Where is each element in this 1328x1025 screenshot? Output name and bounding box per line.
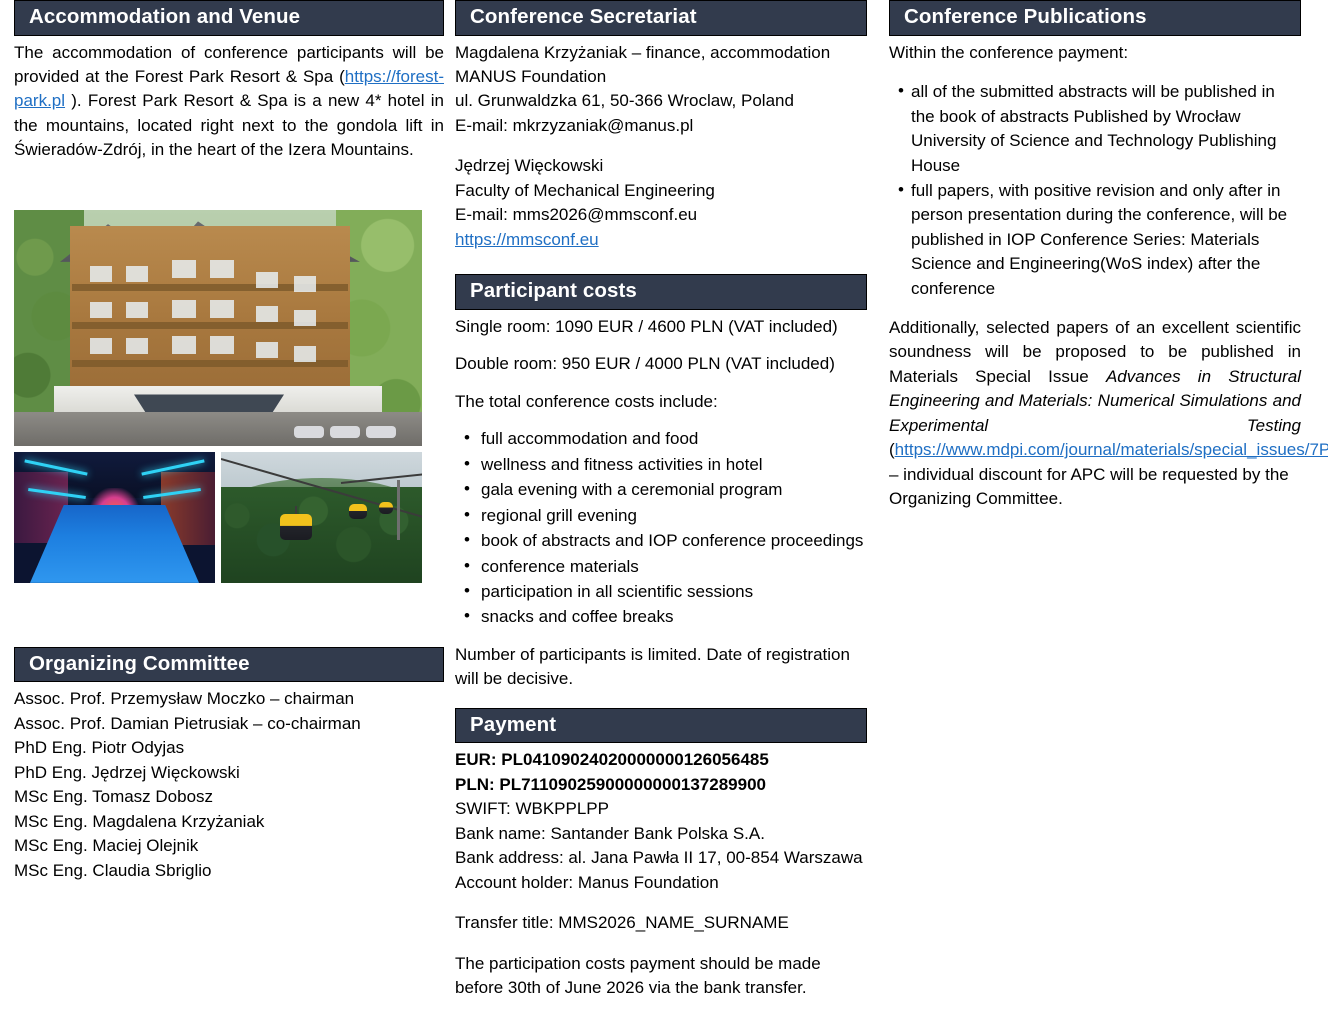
committee-member: Assoc. Prof. Przemysław Moczko – chairma… [14, 687, 444, 711]
payment-account-holder: Account holder: Manus Foundation [455, 871, 867, 895]
section-header-publications: Conference Publications [889, 0, 1301, 36]
payment-deadline: The participation costs payment should b… [455, 952, 867, 1001]
cost-item: snacks and coffee breaks [481, 605, 867, 629]
mdpi-special-issue-link-cont[interactable]: ues/7P7P307EF7 [1277, 440, 1328, 459]
publications-link-paragraph: (https://www.mdpi.com/journal/materials/… [889, 438, 1301, 511]
publication-item: full papers, with positive revision and … [911, 179, 1301, 302]
section-header-participant-costs: Participant costs [455, 274, 867, 310]
cost-item: gala evening with a ceremonial program [481, 478, 867, 502]
cost-item: full accommodation and food [481, 427, 867, 451]
secondary-photos-row [14, 452, 422, 583]
costs-include-intro: The total conference costs include: [455, 390, 867, 414]
committee-member: MSc Eng. Maciej Olejnik [14, 834, 444, 858]
payment-details: EUR: PL04109024020000000126056485 PLN: P… [455, 748, 867, 1000]
payment-swift: SWIFT: WBKPPLPP [455, 797, 867, 821]
secretariat-email-manus: E-mail: mkrzyzaniak@manus.pl [455, 114, 867, 138]
right-column: Conference Publications Within the confe… [889, 0, 1301, 511]
publications-intro: Within the conference payment: [889, 41, 1301, 65]
costs-include-list: full accommodation and food wellness and… [455, 427, 867, 630]
payment-pln-account: PLN: PL71109025900000000137289900 [455, 773, 867, 797]
committee-member: Assoc. Prof. Damian Pietrusiak – co-chai… [14, 712, 444, 736]
committee-member: PhD Eng. Piotr Odyjas [14, 736, 444, 760]
accommodation-text-after-link: ). Forest Park Resort & Spa is a new 4* … [14, 91, 444, 159]
secretariat-line: ul. Grunwaldzka 61, 50-366 Wroclaw, Pola… [455, 89, 867, 113]
publication-item: all of the submitted abstracts will be p… [911, 80, 1301, 179]
mmsconf-website-link[interactable]: https://mmsconf.eu [455, 230, 599, 249]
participants-limit-note: Number of participants is limited. Date … [455, 643, 867, 692]
payment-bank-name: Bank name: Santander Bank Polska S.A. [455, 822, 867, 846]
mdpi-special-issue-link[interactable]: https://www.mdpi.com/journal/materials/s… [895, 440, 1278, 459]
secretariat-line: Magdalena Krzyżaniak – finance, accommod… [455, 41, 867, 65]
middle-column: Conference Secretariat Magdalena Krzyżan… [455, 0, 867, 1001]
double-room-price: Double room: 950 EUR / 4000 PLN (VAT inc… [455, 352, 867, 376]
participant-costs-body: Single room: 1090 EUR / 4600 PLN (VAT in… [455, 315, 867, 692]
cost-item: wellness and fitness activities in hotel [481, 453, 867, 477]
committee-member: PhD Eng. Jędrzej Więckowski [14, 761, 444, 785]
cost-item: regional grill evening [481, 504, 867, 528]
hotel-pool-photo [14, 452, 215, 583]
cost-item: book of abstracts and IOP conference pro… [481, 529, 867, 553]
single-room-price: Single room: 1090 EUR / 4600 PLN (VAT in… [455, 315, 867, 339]
section-header-secretariat: Conference Secretariat [455, 0, 867, 36]
payment-transfer-title: Transfer title: MMS2026_NAME_SURNAME [455, 911, 867, 935]
committee-member: MSc Eng. Claudia Sbriglio [14, 859, 444, 883]
secretariat-line: Jędrzej Więckowski [455, 154, 867, 178]
gondola-lift-photo [221, 452, 422, 583]
accommodation-paragraph: The accommodation of conference particip… [14, 41, 444, 163]
publications-body: Within the conference payment: all of th… [889, 41, 1301, 512]
secretariat-email-mms: E-mail: mms2026@mmsconf.eu [455, 203, 867, 227]
hotel-exterior-photo [14, 210, 422, 446]
cost-item: conference materials [481, 555, 867, 579]
organizing-committee-list: Assoc. Prof. Przemysław Moczko – chairma… [14, 687, 444, 883]
payment-bank-address: Bank address: al. Jana Pawła II 17, 00-8… [455, 846, 867, 870]
cost-item: participation in all scientific sessions [481, 580, 867, 604]
payment-eur-account: EUR: PL04109024020000000126056485 [455, 748, 867, 772]
section-header-payment: Payment [455, 708, 867, 744]
special-issue-title-tail: Testing [1247, 414, 1301, 438]
committee-member: MSc Eng. Tomasz Dobosz [14, 785, 444, 809]
publications-list: all of the submitted abstracts will be p… [889, 80, 1301, 302]
committee-member: MSc Eng. Magdalena Krzyżaniak [14, 810, 444, 834]
publications-additional-paragraph: Additionally, selected papers of an exce… [889, 316, 1301, 438]
accommodation-body: The accommodation of conference particip… [14, 41, 444, 163]
left-column: Accommodation and Venue The accommodatio… [14, 0, 444, 883]
secretariat-contacts: Magdalena Krzyżaniak – finance, accommod… [455, 41, 867, 253]
conference-brochure-page: Accommodation and Venue The accommodatio… [0, 0, 1328, 1025]
section-header-organizing-committee: Organizing Committee [14, 647, 444, 683]
section-header-accommodation: Accommodation and Venue [14, 0, 444, 36]
secretariat-line: Faculty of Mechanical Engineering [455, 179, 867, 203]
secretariat-line: MANUS Foundation [455, 65, 867, 89]
